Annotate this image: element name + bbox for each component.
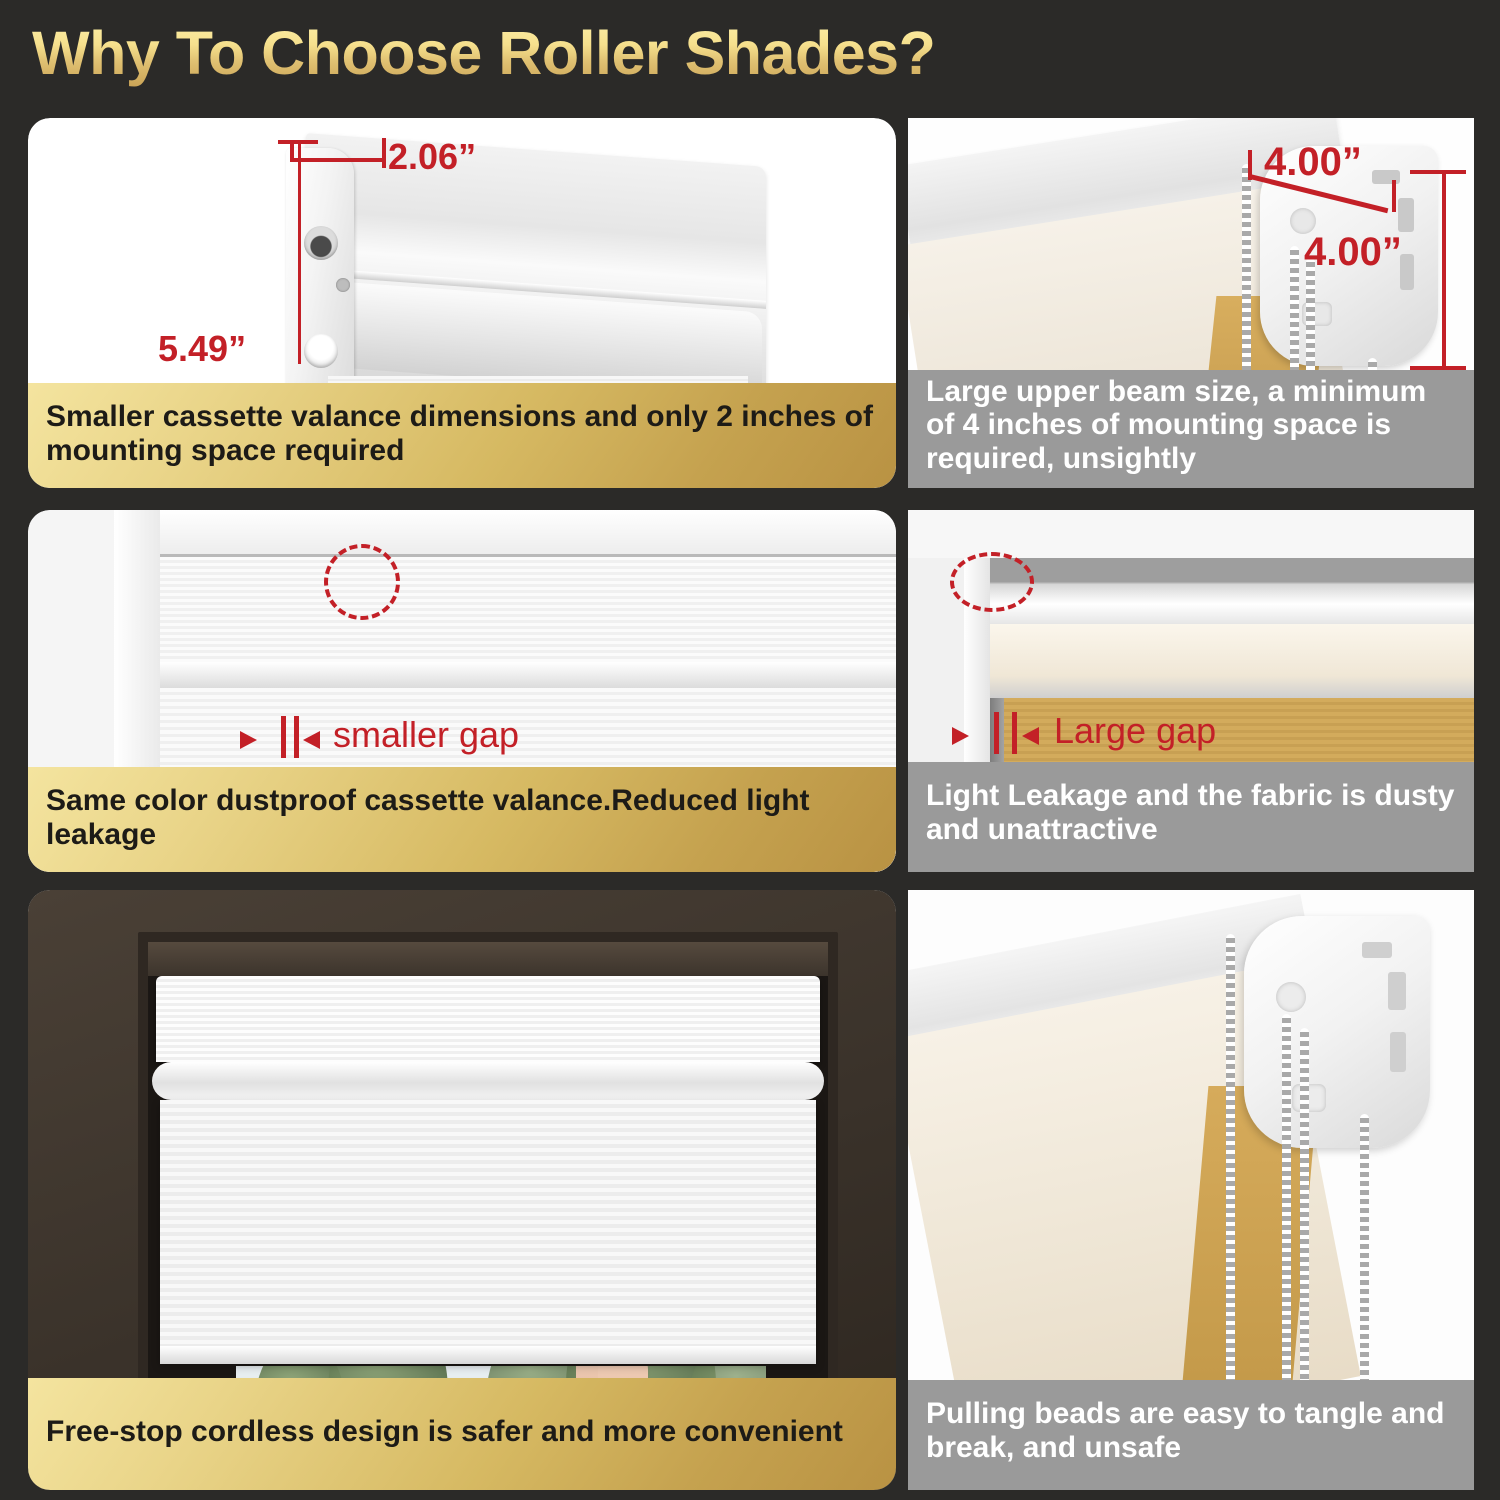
width-dimension-line xyxy=(290,158,386,162)
cassette-valance xyxy=(160,554,896,662)
width-dimension-label: 2.06” xyxy=(388,136,476,178)
highlight-circle-icon xyxy=(324,544,400,620)
beam-width-tick-left xyxy=(1248,150,1252,180)
infographic-page: Why To Choose Roller Shades? 2.06” xyxy=(0,0,1500,1500)
caption-middle-left: Same color dustproof cassette valance.Re… xyxy=(28,767,896,872)
height-dimension-tick-top xyxy=(278,140,318,144)
roller-tube xyxy=(964,558,1474,624)
cassette-valance xyxy=(156,976,820,1062)
beam-height-dimension-line xyxy=(1442,170,1446,370)
mounting-bracket xyxy=(1244,916,1430,1148)
shade-fabric xyxy=(160,1100,816,1362)
bracket-socket-icon xyxy=(304,226,338,260)
highlight-circle-icon xyxy=(950,552,1034,612)
page-title: Why To Choose Roller Shades? xyxy=(32,18,935,88)
width-dimension-tick-right xyxy=(382,138,386,168)
gap-callout-label: Large gap xyxy=(1054,710,1216,752)
caption-top-right: Large upper beam size, a minimum of 4 in… xyxy=(908,370,1474,488)
height-dimension-label: 5.49” xyxy=(158,328,246,370)
beam-height-tick-top xyxy=(1410,170,1466,174)
gap-arrow-right-icon xyxy=(1022,727,1039,745)
caption-bottom-left: Free-stop cordless design is safer and m… xyxy=(28,1378,896,1490)
beam-width-label: 4.00” xyxy=(1264,140,1362,185)
window-frame-top xyxy=(114,510,896,554)
caption-bottom-right: Pulling beads are easy to tangle and bre… xyxy=(908,1380,1474,1490)
height-dimension-line-upper xyxy=(298,140,301,364)
gap-callout-label: smaller gap xyxy=(333,714,519,756)
panel-top-right: 4.00” 4.00” Large upper beam size, a min… xyxy=(908,118,1474,488)
beam-valance xyxy=(964,624,1474,698)
panel-top-left: 2.06” 5.49” Smaller cassette valance dim… xyxy=(28,118,896,488)
window-header xyxy=(148,942,828,976)
valance-end-cap xyxy=(286,148,354,396)
bottom-rail xyxy=(160,1346,816,1364)
panel-bottom-right: Pulling beads are easy to tangle and bre… xyxy=(908,890,1474,1490)
panel-middle-left: smaller gap Same color dustproof cassett… xyxy=(28,510,896,872)
beam-height-label: 4.00” xyxy=(1304,230,1402,275)
caption-middle-right: Light Leakage and the fabric is dusty an… xyxy=(908,762,1474,872)
valance-front-rail xyxy=(152,1062,824,1100)
panel-grid: 2.06” 5.49” Smaller cassette valance dim… xyxy=(0,118,1500,1500)
valance-bottom-rail xyxy=(160,662,896,688)
caption-top-left: Smaller cassette valance dimensions and … xyxy=(28,383,896,488)
panel-bottom-left: Free-stop cordless design is safer and m… xyxy=(28,890,896,1490)
bracket-clip-icon xyxy=(304,334,338,368)
screw-icon xyxy=(336,278,350,292)
gap-arrow-right-icon xyxy=(303,731,320,749)
panel-middle-right: Large gap Light Leakage and the fabric i… xyxy=(908,510,1474,872)
beam-width-tick-right xyxy=(1392,180,1396,212)
gap-arrow-left-icon xyxy=(240,731,257,749)
gap-arrow-left-icon xyxy=(952,727,969,745)
